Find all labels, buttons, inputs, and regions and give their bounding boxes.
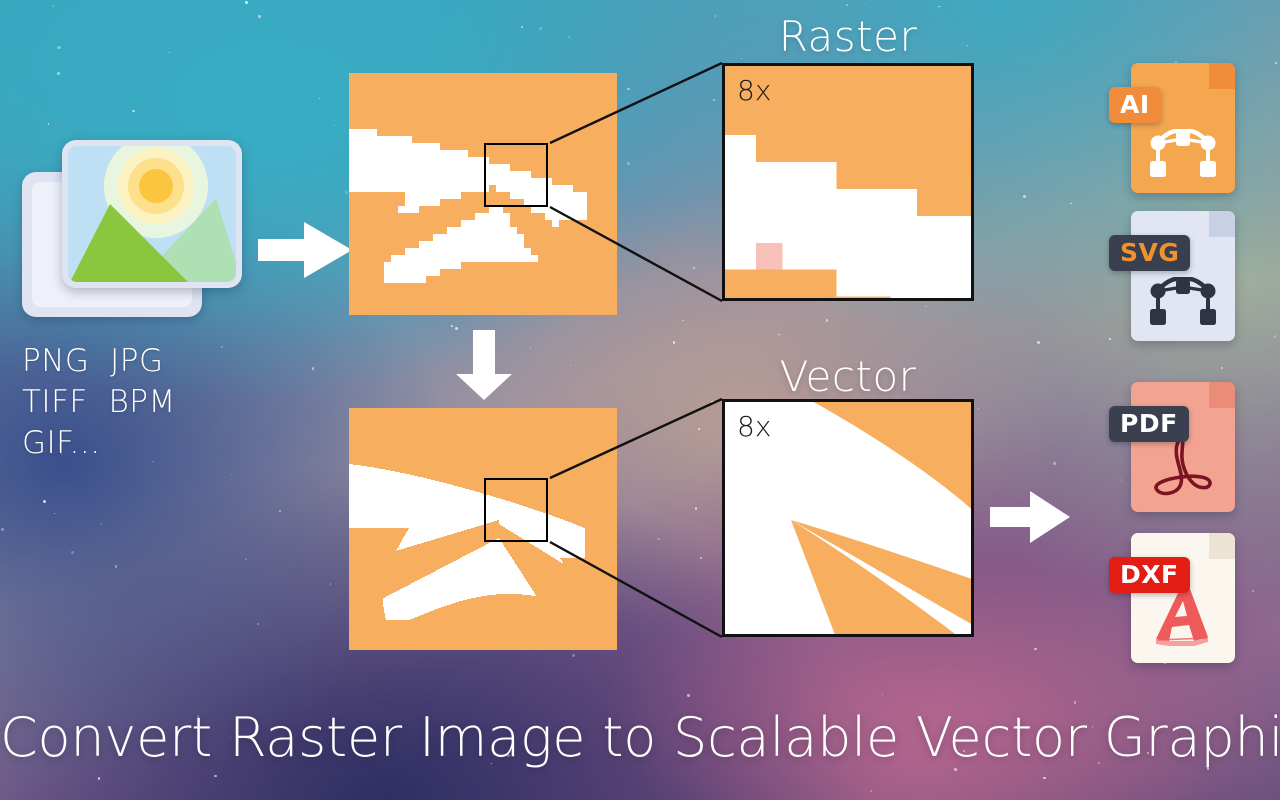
photo-canvas [68,146,236,282]
file-card-svg[interactable]: SVG [1131,211,1235,341]
input-formats-label: PNG JPG TIFF BPM GIF... [22,341,262,464]
raster-selection-box[interactable] [484,143,548,207]
vector-heading: Vector [722,352,974,401]
file-badge-label: SVG [1109,235,1190,271]
photo-front-sheet [62,140,242,288]
raster-logo-pixelated [349,73,617,315]
vector-selection-box[interactable] [484,478,548,542]
file-fold-corner [1209,211,1235,237]
mountain-left-icon [70,204,188,282]
photo-image-icon [22,140,240,325]
file-badge-label: AI [1109,87,1161,123]
autocad-a-icon [1131,587,1235,649]
raster-heading: Raster [722,12,974,61]
bezier-path-icon [1131,277,1235,327]
file-fold-corner [1209,63,1235,89]
raster-zoom-label: 8x [737,74,771,107]
raster-logo-tile [349,73,617,315]
vector-zoom-panel: 8x [722,399,974,637]
arrow-vector-to-formats [990,488,1072,546]
page-title: Convert Raster Image to Scalable Vector … [0,706,1280,769]
file-badge-label: DXF [1109,557,1190,593]
file-fold-corner [1209,382,1235,408]
arrow-raster-to-vector [452,330,516,402]
source-image-block: PNG JPG TIFF BPM GIF... [22,140,262,464]
vector-logo-smooth [349,408,617,650]
file-card-pdf[interactable]: PDF [1131,382,1235,512]
file-card-ai[interactable]: AI [1131,63,1235,193]
file-card-dxf[interactable]: DXF [1131,533,1235,663]
infographic-canvas: PNG JPG TIFF BPM GIF... Raster 8x [0,0,1280,800]
file-badge-label: PDF [1109,406,1189,442]
vector-zoom-label: 8x [737,410,771,443]
acrobat-a-icon [1131,436,1235,498]
file-fold-corner [1209,533,1235,559]
bezier-path-icon [1131,129,1235,179]
arrow-source-to-raster [258,218,354,282]
vector-logo-tile [349,408,617,650]
raster-zoom-panel: 8x [722,63,974,301]
